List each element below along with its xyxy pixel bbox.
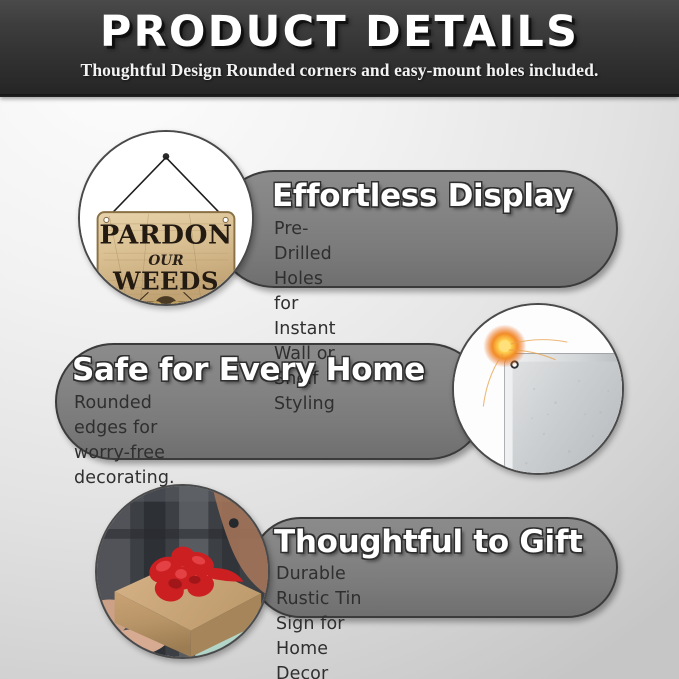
page-subtitle: Thoughtful Design Rounded corners and ea… <box>0 60 679 81</box>
feature-title-safe-for-every-home: Safe for Every Home <box>72 352 425 388</box>
product-details-infographic: PRODUCT DETAILS Thoughtful Design Rounde… <box>0 0 679 679</box>
feature-image-gift-box-red-bow-photo <box>95 484 270 659</box>
feature-title-thoughtful-to-gift: Thoughtful to Gift <box>274 524 583 560</box>
feature-image-rounded-corner-closeup-photo <box>452 303 624 475</box>
feature-body-thoughtful-to-gift: Durable Rustic Tin Sign for Home Decor E… <box>276 562 384 679</box>
feature-image-pardon-our-weeds-hanging-sign-photo: PARDON OUR WEEDS <box>78 130 254 306</box>
page-title: PRODUCT DETAILS <box>0 7 679 57</box>
feature-body-safe-for-every-home: Rounded edges for worry-free decorating. <box>74 391 175 491</box>
svg-text:PARDON: PARDON <box>99 219 232 250</box>
feature-title-effortless-display: Effortless Display <box>272 178 573 214</box>
svg-text:WEEDS: WEEDS <box>112 266 219 295</box>
header-banner: PRODUCT DETAILS Thoughtful Design Rounde… <box>0 0 679 97</box>
